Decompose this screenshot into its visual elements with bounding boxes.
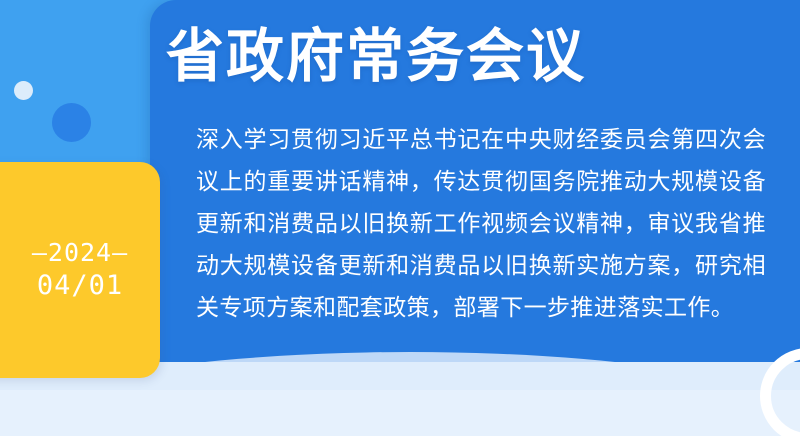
page-title: 省政府常务会议	[166, 24, 786, 91]
meeting-summary-text: 深入学习贯彻习近平总书记在中央财经委员会第四次会议上的重要讲话精神，传达贯彻国务…	[196, 118, 766, 328]
date-card: —2024— 04/01	[0, 162, 160, 378]
bottom-band-inner	[0, 390, 800, 436]
date-day-month: 04/01	[37, 268, 123, 303]
date-year: —2024—	[32, 237, 128, 268]
decorative-deep-blue-circle	[52, 103, 91, 142]
decorative-small-pale-circle	[14, 81, 33, 100]
meeting-announcement-poster: 省政府常务会议 深入学习贯彻习近平总书记在中央财经委员会第四次会议上的重要讲话精…	[0, 0, 800, 436]
